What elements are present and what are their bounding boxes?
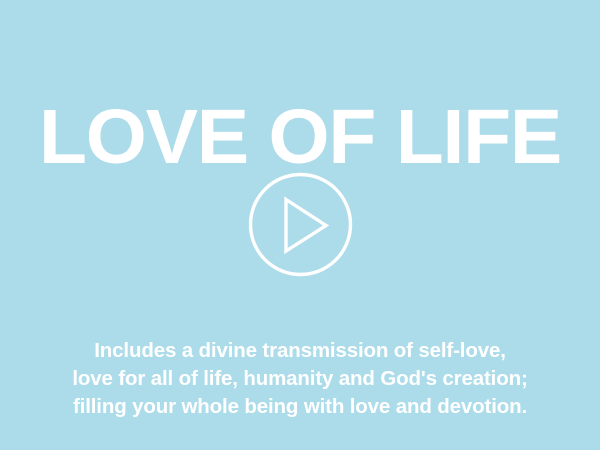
love-of-life-banner: LOVE OF LIFE Includes a divine transmiss… xyxy=(0,0,600,450)
play-button[interactable] xyxy=(248,172,353,277)
play-triangle-icon xyxy=(286,200,326,252)
play-button-ring xyxy=(251,175,351,275)
description-line: love for all of life, humanity and God's… xyxy=(0,365,600,393)
description-text: Includes a divine transmission of self-l… xyxy=(0,337,600,421)
description-line: filling your whole being with love and d… xyxy=(0,393,600,421)
description-line: Includes a divine transmission of self-l… xyxy=(0,337,600,365)
page-title: LOVE OF LIFE xyxy=(0,99,600,176)
